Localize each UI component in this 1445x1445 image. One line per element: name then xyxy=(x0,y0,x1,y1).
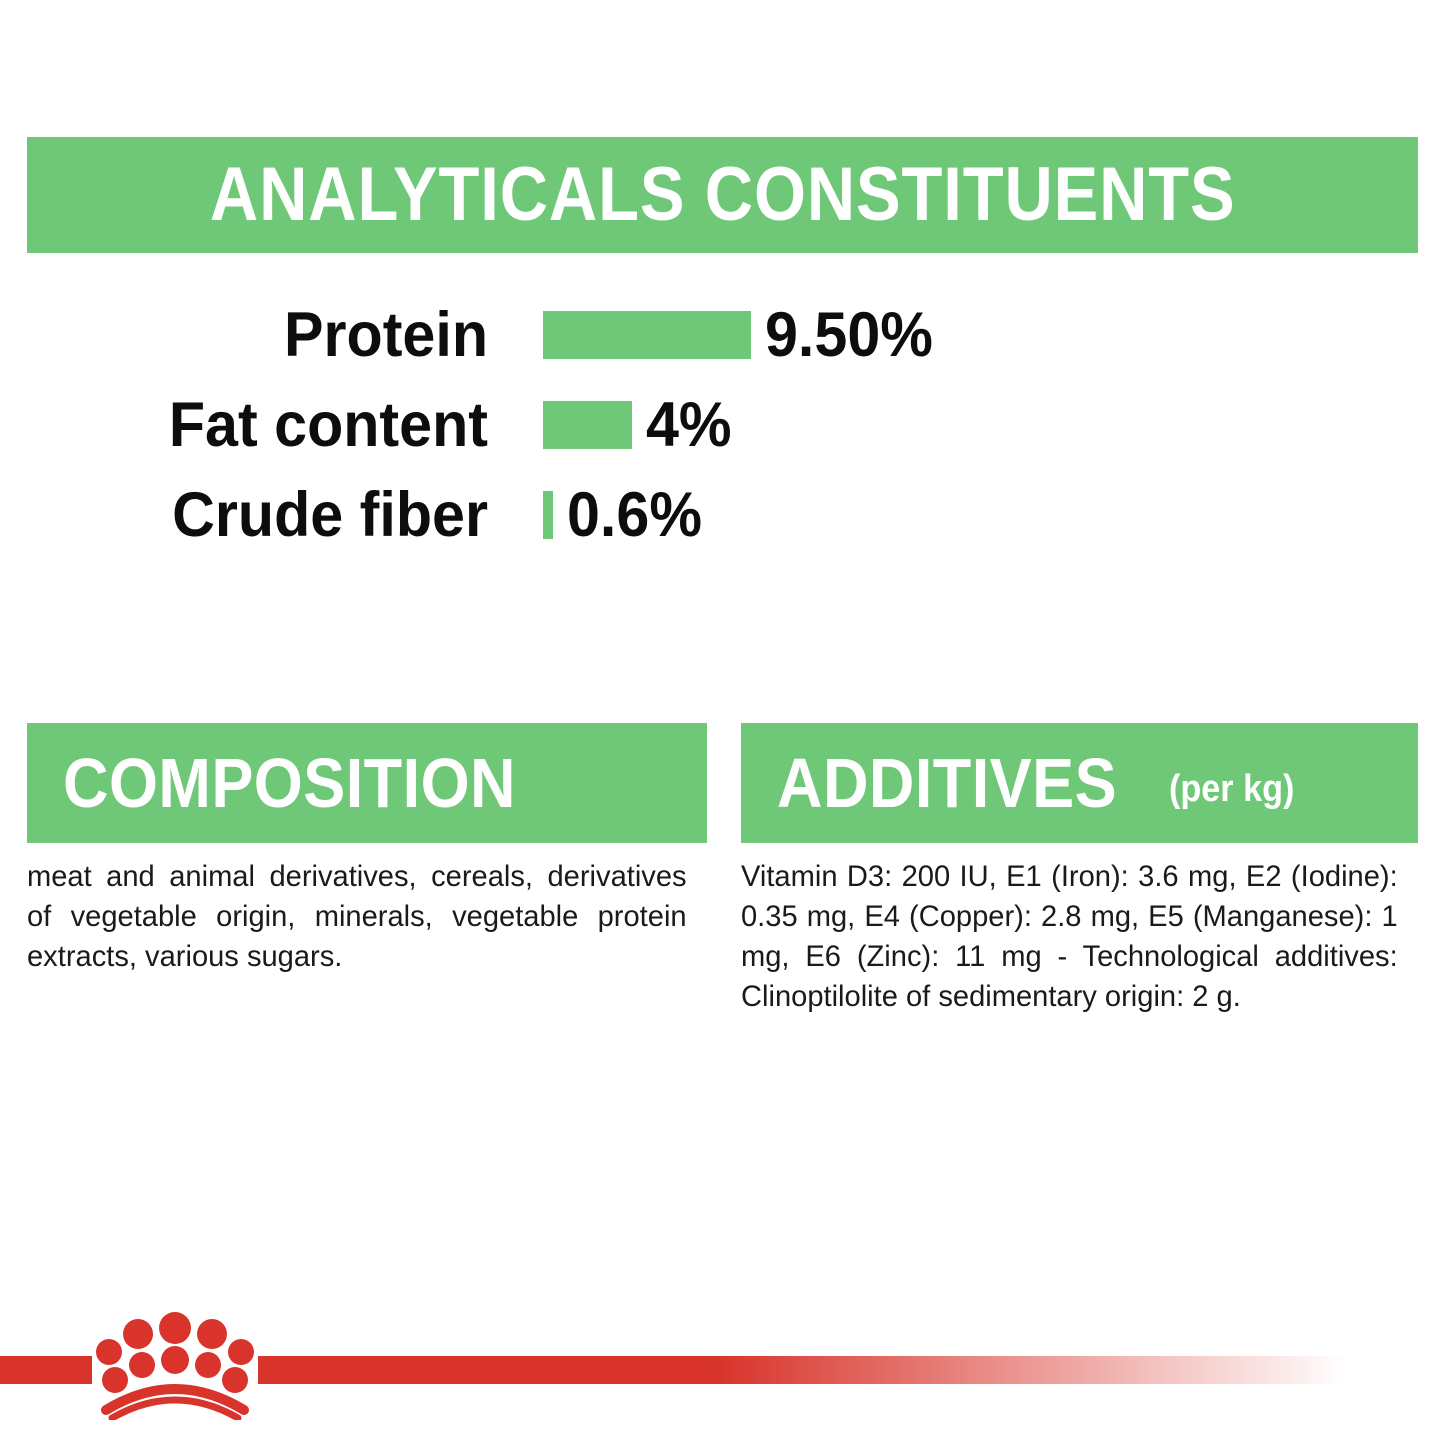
constituent-bar-group: 4% xyxy=(543,394,737,457)
constituent-value-protein: 9.50% xyxy=(765,304,933,367)
footer-rule-left xyxy=(0,1356,92,1384)
royal-canin-crown-icon xyxy=(96,1310,254,1420)
constituent-value-crude-fiber: 0.6% xyxy=(567,484,702,547)
additives-banner: ADDITIVES (per kg) xyxy=(741,723,1418,843)
constituent-row: Crude fiber 0.6% xyxy=(0,470,1445,560)
constituent-label-crude-fiber: Crude fiber xyxy=(29,484,488,547)
composition-text: meat and animal derivatives, cereals, de… xyxy=(27,857,687,977)
composition-banner: COMPOSITION xyxy=(27,723,707,843)
composition-heading: COMPOSITION xyxy=(63,748,516,818)
label-page: ANALYTICALS CONSTITUENTS Protein 9.50% F… xyxy=(0,0,1445,1445)
constituent-value-fat-content: 4% xyxy=(646,394,732,457)
footer-rule-right xyxy=(258,1356,1348,1384)
additives-section: ADDITIVES (per kg) Vitamin D3: 200 IU, E… xyxy=(741,723,1418,1017)
constituent-bar-protein xyxy=(543,311,751,359)
constituent-label-protein: Protein xyxy=(29,304,488,367)
additives-heading: ADDITIVES xyxy=(777,748,1117,818)
additives-heading-suffix: (per kg) xyxy=(1169,770,1294,808)
additives-text: Vitamin D3: 200 IU, E1 (Iron): 3.6 mg, E… xyxy=(741,857,1398,1017)
constituent-bar-crude-fiber xyxy=(543,491,553,539)
constituent-row: Fat content 4% xyxy=(0,380,1445,470)
constituent-bar-group: 0.6% xyxy=(543,484,711,547)
constituent-label-fat-content: Fat content xyxy=(29,394,488,457)
analyticals-constituents-banner: ANALYTICALS CONSTITUENTS xyxy=(27,137,1418,253)
constituent-bar-fat-content xyxy=(543,401,632,449)
footer xyxy=(0,1352,1445,1388)
composition-section: COMPOSITION meat and animal derivatives,… xyxy=(27,723,707,977)
constituent-row: Protein 9.50% xyxy=(0,290,1445,380)
page-title: ANALYTICALS CONSTITUENTS xyxy=(210,157,1236,233)
analytical-constituents-chart: Protein 9.50% Fat content 4% Crude fiber… xyxy=(0,290,1445,560)
constituent-bar-group: 9.50% xyxy=(543,304,944,367)
